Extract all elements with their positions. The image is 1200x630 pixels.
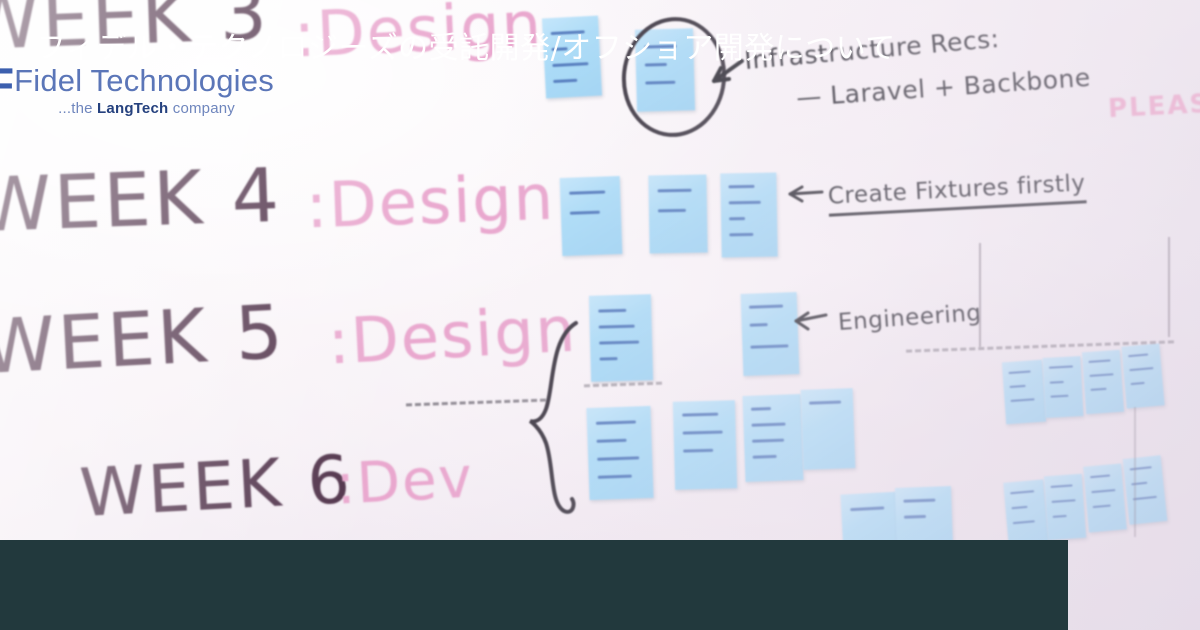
logo-tagline: ...the LangTech company (58, 100, 274, 118)
logo-tagline-strong: LangTech (97, 100, 168, 117)
caption-title: フィデル・テクノロジーズの受託開発/オフショア開発について (36, 0, 896, 90)
logo-tagline-suffix: company (168, 100, 235, 117)
caption-bar (0, 540, 1068, 630)
logo-tagline-prefix: ...the (58, 100, 97, 117)
og-banner: WEEK 3 :Design WEEK 4 :Design WEEK 5 :De… (0, 0, 1200, 630)
logo-mark-icon: F (0, 64, 14, 104)
